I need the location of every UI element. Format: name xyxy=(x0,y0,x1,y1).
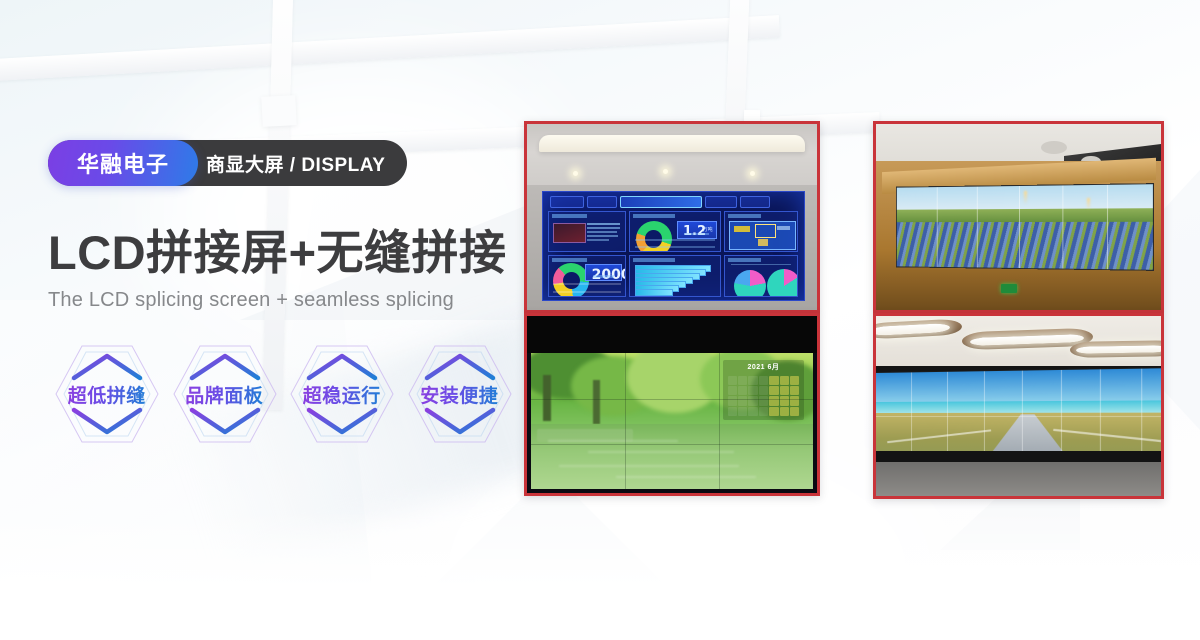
calendar-overlay: 2021 6月 xyxy=(723,360,805,420)
gallery-photo-beach-boardwalk-video-wall[interactable] xyxy=(873,313,1164,499)
bezel-marking xyxy=(573,331,576,337)
ceiling-speaker xyxy=(1041,141,1067,154)
headline-column: 商显大屏 / DISPLAY 华融电子 LCD拼接屏+无缝拼接 The LCD … xyxy=(48,140,518,450)
dashboard-card-bar-list xyxy=(629,255,722,296)
feature-badge-label: 安装便捷 xyxy=(420,381,498,408)
feature-badge-1: 超低拼缝 xyxy=(48,338,166,450)
pie-chart xyxy=(767,269,798,297)
dashboard-card-overview xyxy=(548,211,626,252)
dashboard-card-pies xyxy=(724,255,798,296)
dashboard-card-grid: 1.2 万吨 xyxy=(548,211,799,296)
dashboard-card-flow xyxy=(724,211,798,252)
feature-badge-list: 超低拼缝 品牌面板 超稳运行 xyxy=(48,338,518,450)
brand-pill-row: 商显大屏 / DISPLAY 华融电子 xyxy=(48,140,518,186)
background-floor-fade xyxy=(0,510,1200,640)
dashboard-card-kpi: 1.2 万吨 xyxy=(629,211,722,252)
ceiling-spotlight xyxy=(663,169,668,174)
photo-content: 2021 6月 xyxy=(527,316,817,493)
feature-badge-3: 超稳运行 xyxy=(283,338,401,450)
dashboard-tab-active xyxy=(620,196,702,208)
ceiling-light-strip xyxy=(1075,345,1161,354)
lcd-video-wall-screen: 2021 6月 xyxy=(531,353,812,489)
photo-content xyxy=(876,124,1161,310)
page-subtitle: The LCD splicing screen + seamless splic… xyxy=(48,289,518,312)
calendar-title: 2021 6月 xyxy=(723,362,805,372)
kpi-tile: 1.2 万吨 xyxy=(677,221,717,239)
photo-content xyxy=(876,316,1161,496)
screen-base-shadow xyxy=(876,451,1161,462)
page-title: LCD拼接屏+无缝拼接 xyxy=(48,228,518,277)
feature-badge-label: 超稳运行 xyxy=(303,381,381,408)
exit-sign xyxy=(1001,284,1017,293)
pie-chart xyxy=(734,270,766,297)
feature-badge-label: 品牌面板 xyxy=(185,381,263,408)
lcd-video-wall-screen: 1.2 万吨 xyxy=(542,191,805,301)
dashboard-top-bar xyxy=(548,195,803,209)
ceiling-spotlight xyxy=(750,171,755,176)
dashboard-tab xyxy=(550,196,585,208)
dashboard-tab xyxy=(705,196,737,208)
wall-washer-light xyxy=(1024,191,1027,204)
dark-upper-bezel xyxy=(527,316,817,353)
calendar-grid xyxy=(728,376,800,417)
tree-trunk xyxy=(593,380,600,424)
lake-water xyxy=(531,424,812,489)
dashboard-card-donut: 2000 xyxy=(548,255,626,296)
hall-floor xyxy=(876,456,1161,496)
brand-pill: 华融电子 xyxy=(48,140,198,186)
ceiling-spotlight xyxy=(573,171,578,176)
dashboard-tab xyxy=(740,196,770,208)
cove-lighting xyxy=(539,135,806,152)
photo-content: 1.2 万吨 xyxy=(527,124,817,310)
beam-joint xyxy=(261,95,297,127)
brand-pill-label: 华融电子 xyxy=(77,147,169,179)
feature-badge-label: 超低拼缝 xyxy=(68,381,146,408)
ceiling xyxy=(527,124,817,187)
gallery-photo-solar-farm-video-wall[interactable] xyxy=(873,121,1164,313)
dashboard-tab xyxy=(587,196,617,208)
wall-washer-light xyxy=(1087,198,1090,209)
screen-sky xyxy=(876,368,1161,404)
gallery-photo-dashboard-video-wall[interactable]: 1.2 万吨 xyxy=(524,121,820,313)
category-pill-label: 商显大屏 / DISPLAY xyxy=(206,150,385,177)
gallery-photo-willow-lake-video-wall[interactable]: 2021 6月 xyxy=(524,313,820,496)
feature-badge-4: 安装便捷 xyxy=(401,338,519,450)
kpi-tile: 2000 xyxy=(585,264,622,282)
ceiling-beam xyxy=(0,15,780,83)
feature-badge-2: 品牌面板 xyxy=(166,338,284,450)
promo-banner: 商显大屏 / DISPLAY 华融电子 LCD拼接屏+无缝拼接 The LCD … xyxy=(0,0,1200,640)
